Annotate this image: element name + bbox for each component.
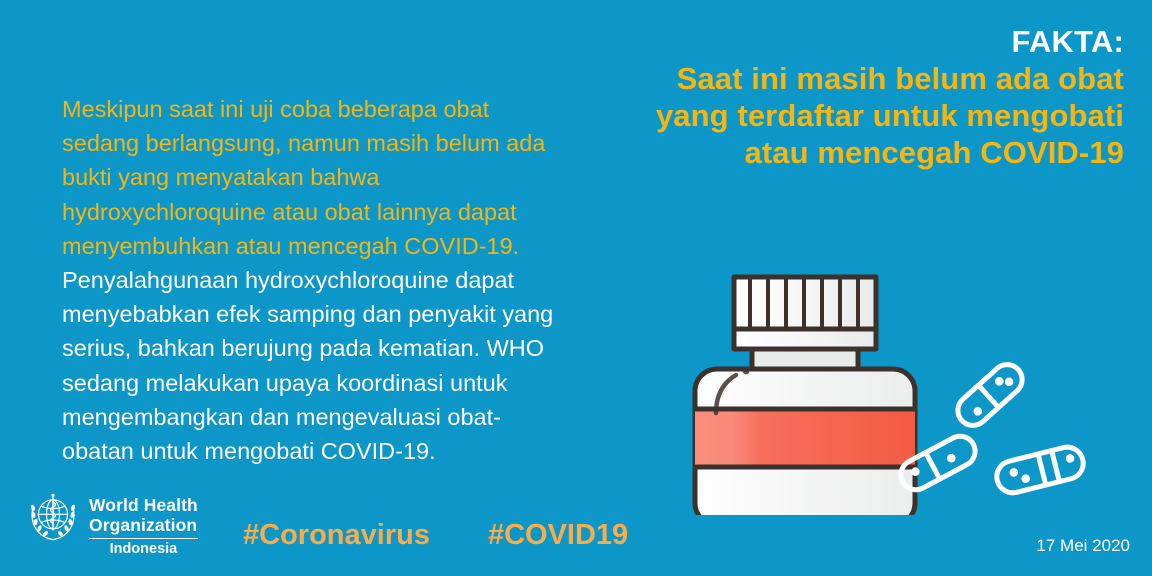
who-covid-fact-poster: FAKTA: Saat ini masih belum ada obat yan… xyxy=(0,0,1152,576)
body-paragraph-plain: Penyalahgunaan hydroxychloroquine dapat … xyxy=(62,263,582,468)
body-paragraph-highlight: Meskipun saat ini uji coba beberapa obat… xyxy=(62,92,582,263)
who-emblem-icon xyxy=(26,490,80,544)
hashtag-row: #Coronavirus #COVID19 xyxy=(243,518,628,552)
pill-bottle-illustration xyxy=(690,255,1110,515)
who-divider xyxy=(89,538,198,539)
date-stamp: 17 Mei 2020 xyxy=(1036,535,1130,556)
headline-text: Saat ini masih belum ada obat yang terda… xyxy=(584,60,1124,171)
who-country-label: Indonesia xyxy=(89,541,198,558)
who-name-line1: World Health xyxy=(89,495,198,515)
who-wordmark: World Health Organization Indonesia xyxy=(89,490,198,558)
bottle-body-icon xyxy=(690,368,926,515)
bottle-cap-icon xyxy=(734,277,876,371)
capsule-icon-group xyxy=(896,358,1087,496)
headline-block: FAKTA: Saat ini masih belum ada obat yan… xyxy=(584,24,1124,171)
body-copy: Meskipun saat ini uji coba beberapa obat… xyxy=(62,92,582,468)
who-name-line2: Organization xyxy=(89,515,198,535)
fakta-label: FAKTA: xyxy=(584,24,1124,60)
hashtag-covid19[interactable]: #COVID19 xyxy=(488,518,628,552)
who-logo: World Health Organization Indonesia xyxy=(26,490,198,558)
hashtag-coronavirus[interactable]: #Coronavirus xyxy=(243,518,430,552)
